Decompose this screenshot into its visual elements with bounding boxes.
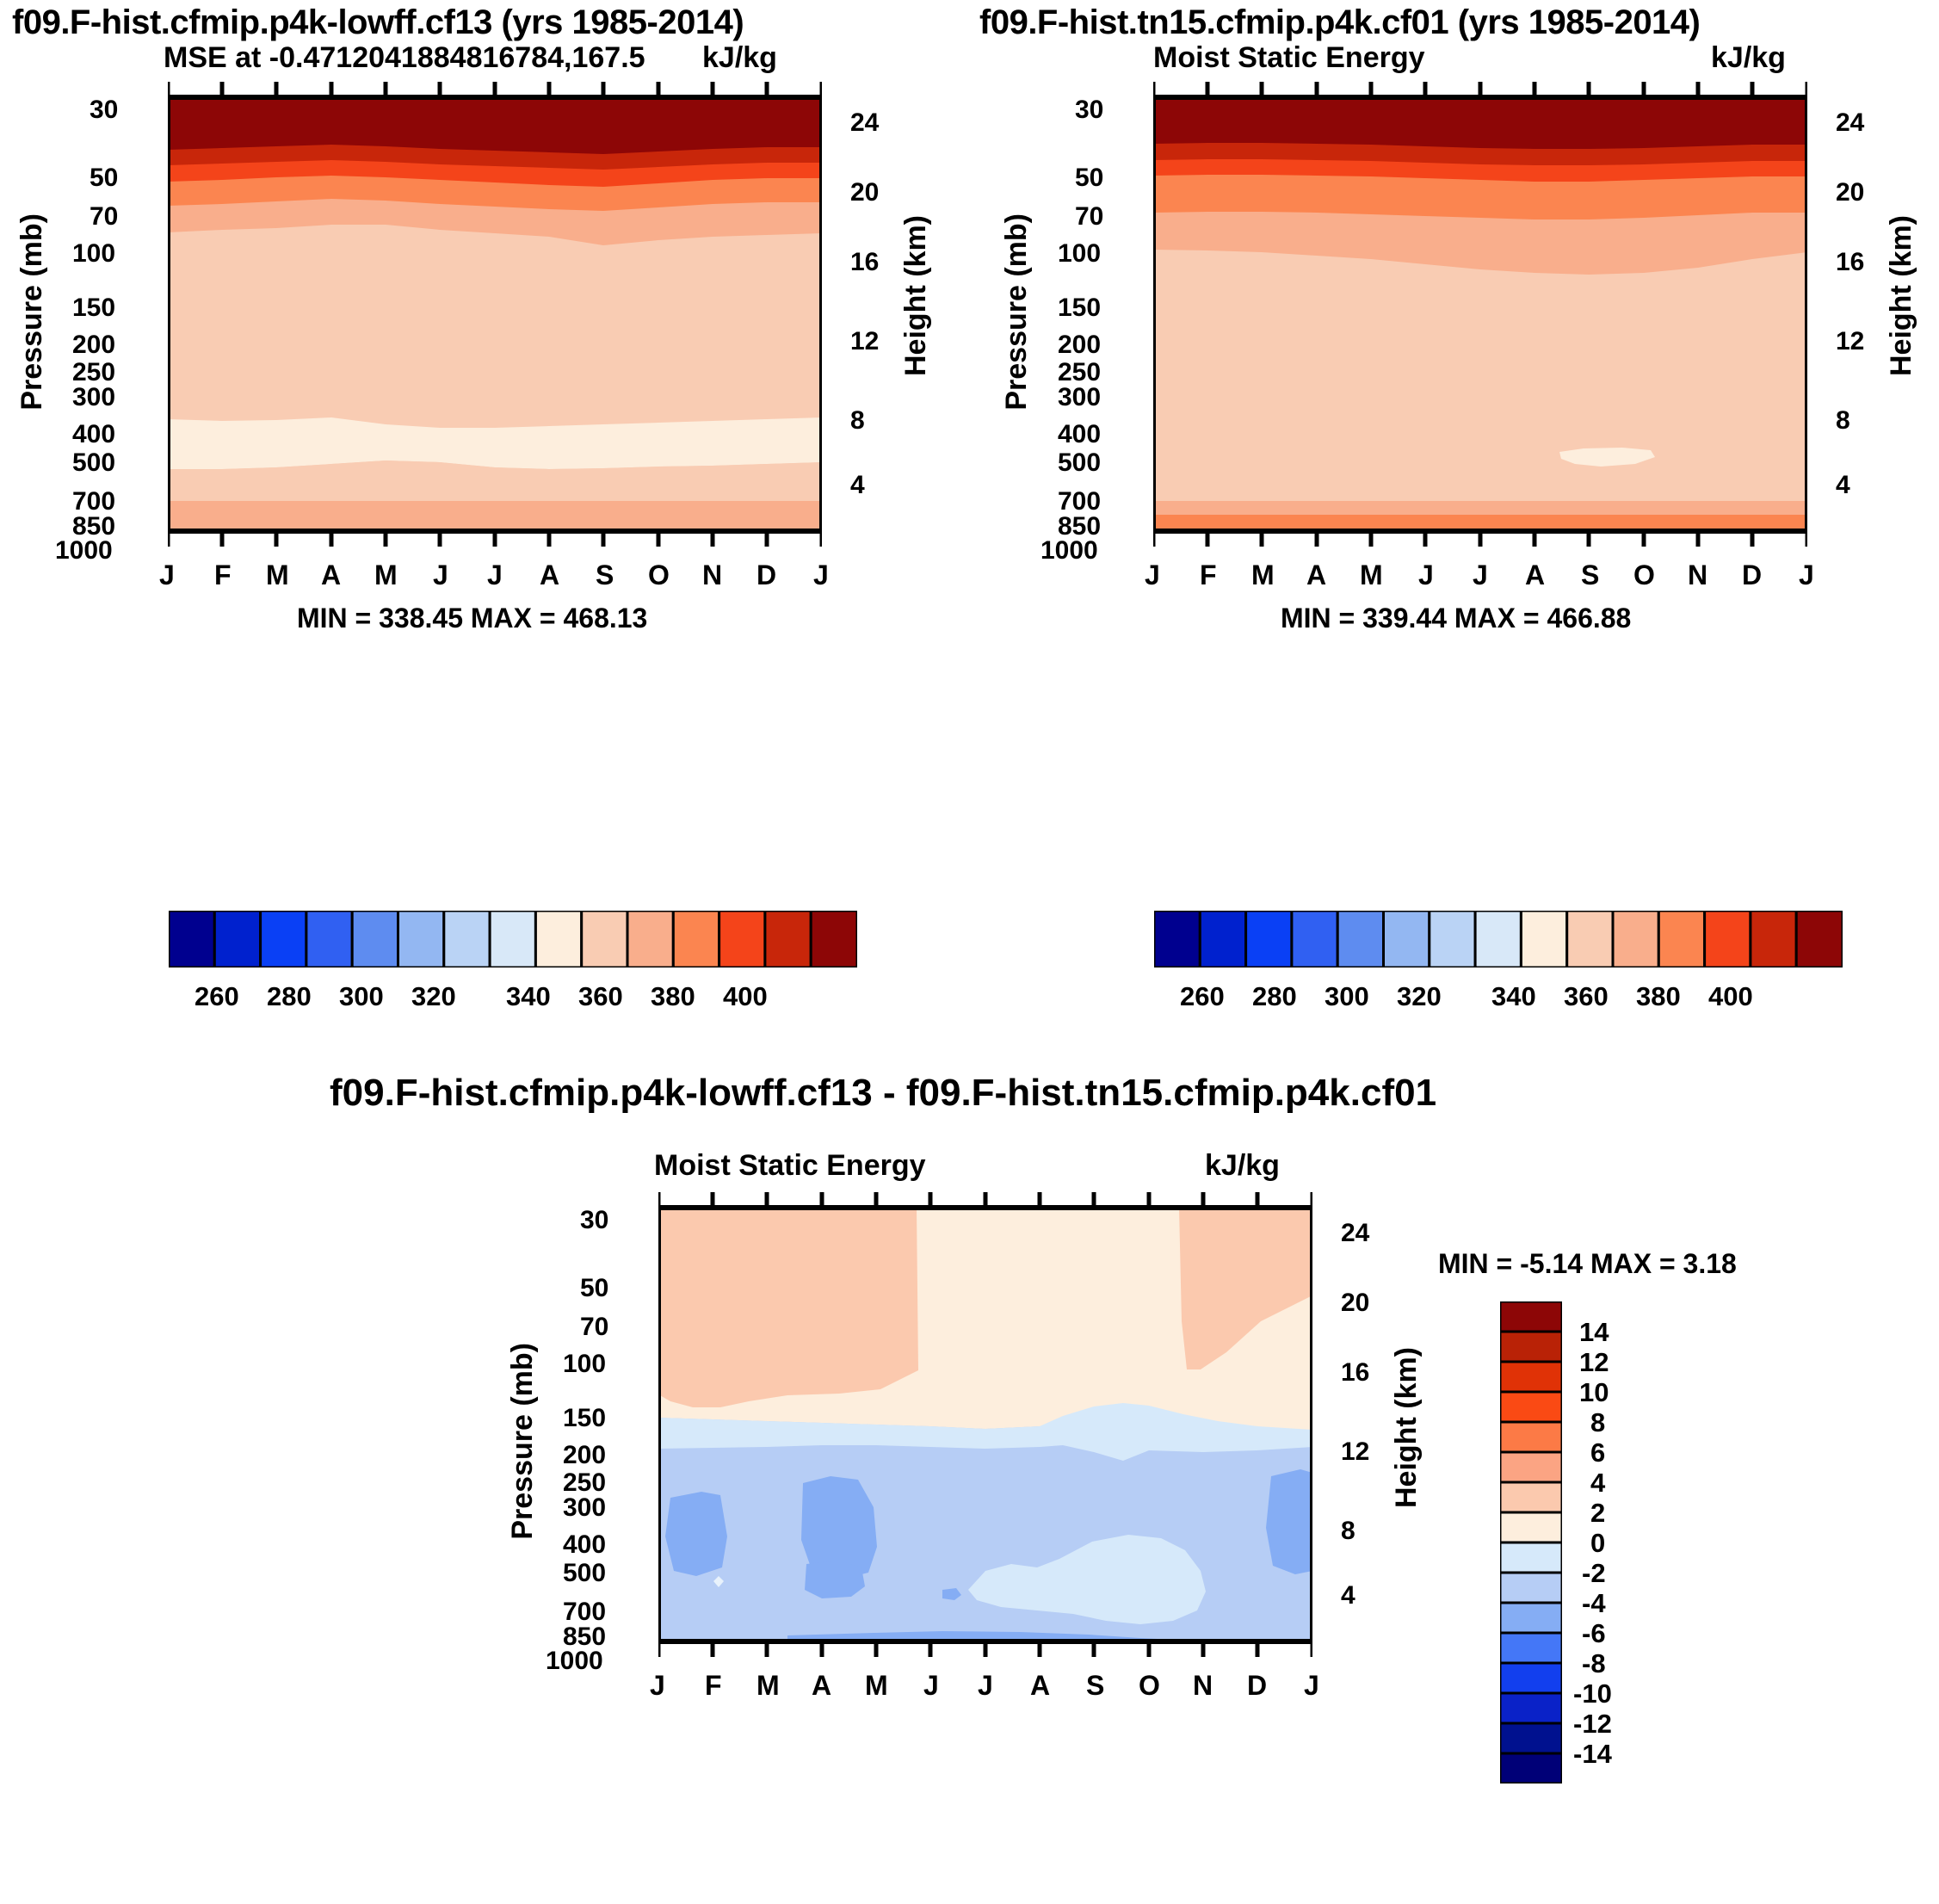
colorbar-tick-380: 380 [651, 981, 695, 1012]
month-label: M [865, 1670, 888, 1702]
tick-height-16: 16 [1836, 248, 1864, 277]
tick-pressure-1000: 1000 [546, 1647, 603, 1676]
tick-height-20: 20 [1836, 178, 1864, 207]
panel-diff-title: f09.F-hist.cfmip.p4k-lowff.cf13 - f09.F-… [330, 1072, 1436, 1115]
tick-pressure-70: 70 [90, 202, 118, 232]
month-label: M [374, 559, 398, 591]
colorbar-diff-tick-neg4: -4 [1582, 1588, 1606, 1619]
tick-pressure-500: 500 [563, 1559, 606, 1588]
panel-left-units: kJ/kg [702, 41, 777, 75]
tick-pressure-50: 50 [1075, 164, 1103, 193]
month-label: J [978, 1670, 993, 1702]
tick-pressure-150: 150 [72, 294, 115, 323]
tick-height-12: 12 [1341, 1437, 1369, 1467]
month-label: F [214, 559, 232, 591]
panel-right-contour-svg [1153, 82, 1807, 547]
contour-bands-left [168, 97, 822, 531]
panel-diff-units: kJ/kg [1205, 1149, 1280, 1183]
colorbar-diff-tick-4: 4 [1590, 1468, 1605, 1499]
colorbar-tick-300: 300 [1325, 981, 1369, 1012]
tick-height-16: 16 [850, 248, 879, 277]
colorbar-diff[interactable] [1500, 1301, 1562, 1783]
month-label: F [1200, 559, 1217, 591]
colorbar-diff-tick-8: 8 [1590, 1407, 1605, 1438]
panel-right-units: kJ/kg [1711, 41, 1786, 75]
month-label: J [1304, 1670, 1319, 1702]
tick-height-8: 8 [1341, 1517, 1355, 1546]
tick-height-4: 4 [1836, 471, 1850, 500]
month-label: J [1145, 559, 1160, 591]
month-label: O [1139, 1670, 1160, 1702]
panel-diff-subtitle: Moist Static Energy [654, 1149, 926, 1183]
tick-pressure-50: 50 [580, 1274, 608, 1303]
month-label: D [756, 559, 776, 591]
panel-right-plot[interactable] [1153, 82, 1807, 547]
colorbar-left-swatches [169, 911, 857, 967]
colorbar-diff-tick-0: 0 [1590, 1528, 1605, 1559]
month-label: J [487, 559, 503, 591]
colorbar-tick-320: 320 [411, 981, 456, 1012]
tick-pressure-150: 150 [1058, 294, 1101, 323]
month-label: M [1251, 559, 1275, 591]
panel-diff-plot[interactable] [658, 1192, 1312, 1657]
panel-diff-minmax: MIN = -5.14 MAX = 3.18 [1438, 1248, 1737, 1280]
colorbar-left-svg [169, 911, 857, 967]
colorbar-tick-340: 340 [1491, 981, 1536, 1012]
tick-pressure-300: 300 [72, 383, 115, 412]
colorbar-diff-tick-14: 14 [1579, 1317, 1609, 1348]
tick-pressure-300: 300 [563, 1493, 606, 1523]
month-label: A [1030, 1670, 1050, 1702]
colorbar-tick-260: 260 [1180, 981, 1225, 1012]
month-label: J [159, 559, 175, 591]
month-label: A [1306, 559, 1326, 591]
month-label: N [702, 559, 722, 591]
contour-bands-diff [658, 1208, 1312, 1641]
tick-pressure-200: 200 [563, 1441, 606, 1470]
month-label: J [813, 559, 829, 591]
tick-pressure-500: 500 [1058, 448, 1101, 478]
month-label: A [1525, 559, 1545, 591]
tick-pressure-100: 100 [563, 1350, 606, 1379]
month-label: S [1581, 559, 1599, 591]
colorbar-diff-tick-2: 2 [1590, 1498, 1605, 1529]
colorbar-tick-380: 380 [1636, 981, 1681, 1012]
colorbar-tick-340: 340 [506, 981, 551, 1012]
tick-pressure-30: 30 [580, 1206, 608, 1235]
tick-pressure-100: 100 [1058, 239, 1101, 269]
tick-pressure-70: 70 [1075, 202, 1103, 232]
month-label: D [1247, 1670, 1267, 1702]
month-label: F [705, 1670, 722, 1702]
month-label: N [1688, 559, 1707, 591]
colorbar-tick-360: 360 [1564, 981, 1609, 1012]
colorbar-tick-280: 280 [1252, 981, 1297, 1012]
panel-right-title: f09.F-hist.tn15.cfmip.p4k.cf01 (yrs 1985… [979, 3, 1700, 42]
colorbar-right-swatches [1154, 911, 1843, 967]
panel-left-subtitle: MSE at -0.4712041884816784,167.5 [164, 41, 645, 75]
month-label: D [1742, 559, 1762, 591]
tick-height-12: 12 [1836, 327, 1864, 356]
tick-pressure-1000: 1000 [1041, 536, 1098, 566]
colorbar-diff-swatches [1500, 1301, 1562, 1783]
month-label: N [1193, 1670, 1213, 1702]
month-label: S [1086, 1670, 1104, 1702]
tick-pressure-50: 50 [90, 164, 118, 193]
month-label: J [923, 1670, 939, 1702]
panel-left-minmax: MIN = 338.45 MAX = 468.13 [297, 603, 647, 634]
tick-pressure-30: 30 [90, 96, 118, 125]
colorbar-tick-360: 360 [578, 981, 623, 1012]
colorbar-tick-400: 400 [723, 981, 768, 1012]
colorbar-tick-320: 320 [1397, 981, 1442, 1012]
colorbar-diff-tick-6: 6 [1590, 1437, 1605, 1468]
tick-height-4: 4 [850, 471, 865, 500]
tick-height-24: 24 [850, 108, 879, 138]
colorbar-diff-tick-neg2: -2 [1582, 1558, 1606, 1589]
colorbar-diff-tick-neg14: -14 [1573, 1739, 1612, 1770]
tick-height-4: 4 [1341, 1581, 1355, 1610]
month-label: A [540, 559, 559, 591]
panel-left-contour-svg [168, 82, 822, 547]
month-label: J [1418, 559, 1434, 591]
tick-pressure-300: 300 [1058, 383, 1101, 412]
colorbar-right-svg [1154, 911, 1843, 967]
month-label: J [433, 559, 448, 591]
tick-pressure-150: 150 [563, 1404, 606, 1433]
tick-pressure-200: 200 [72, 331, 115, 360]
colorbar-tick-280: 280 [267, 981, 312, 1012]
colorbar-left[interactable] [169, 911, 857, 967]
colorbar-diff-tick-12: 12 [1579, 1347, 1609, 1378]
colorbar-tick-400: 400 [1708, 981, 1753, 1012]
tick-height-20: 20 [850, 178, 879, 207]
panel-left-title: f09.F-hist.cfmip.p4k-lowff.cf13 (yrs 198… [12, 3, 744, 42]
panel-diff-contour-svg [658, 1192, 1312, 1657]
tick-pressure-400: 400 [563, 1530, 606, 1560]
tick-pressure-400: 400 [72, 420, 115, 449]
panel-left-plot[interactable] [168, 82, 822, 547]
month-label: O [1633, 559, 1655, 591]
tick-height-20: 20 [1341, 1289, 1369, 1318]
month-label: A [812, 1670, 831, 1702]
month-label: M [266, 559, 289, 591]
colorbar-tick-260: 260 [195, 981, 239, 1012]
tick-height-8: 8 [1836, 406, 1850, 436]
month-label: S [596, 559, 614, 591]
colorbar-diff-svg [1500, 1301, 1562, 1783]
colorbar-diff-tick-neg8: -8 [1582, 1648, 1606, 1679]
panel-right-subtitle: Moist Static Energy [1153, 41, 1425, 75]
tick-pressure-400: 400 [1058, 420, 1101, 449]
tick-pressure-200: 200 [1058, 331, 1101, 360]
month-label: J [650, 1670, 665, 1702]
tick-height-24: 24 [1341, 1219, 1369, 1248]
colorbar-right[interactable] [1154, 911, 1843, 967]
colorbar-diff-tick-neg6: -6 [1582, 1618, 1606, 1649]
colorbar-tick-300: 300 [339, 981, 384, 1012]
tick-height-24: 24 [1836, 108, 1864, 138]
month-label: M [1360, 559, 1383, 591]
month-label: A [321, 559, 341, 591]
contour-bands-right [1153, 97, 1807, 531]
panel-right-minmax: MIN = 339.44 MAX = 466.88 [1281, 603, 1631, 634]
tick-pressure-30: 30 [1075, 96, 1103, 125]
tick-pressure-70: 70 [580, 1313, 608, 1342]
colorbar-diff-tick-neg12: -12 [1573, 1709, 1612, 1740]
tick-pressure-500: 500 [72, 448, 115, 478]
tick-height-12: 12 [850, 327, 879, 356]
panel-right-ylabel-right: Height (km) [1885, 215, 1939, 249]
month-label: J [1473, 559, 1488, 591]
colorbar-diff-tick-10: 10 [1579, 1377, 1609, 1408]
month-label: J [1799, 559, 1814, 591]
month-label: O [648, 559, 670, 591]
month-label: M [756, 1670, 780, 1702]
tick-pressure-1000: 1000 [55, 536, 113, 566]
tick-pressure-100: 100 [72, 239, 115, 269]
colorbar-diff-tick-neg10: -10 [1573, 1678, 1612, 1709]
tick-height-8: 8 [850, 406, 865, 436]
tick-height-16: 16 [1341, 1358, 1369, 1388]
